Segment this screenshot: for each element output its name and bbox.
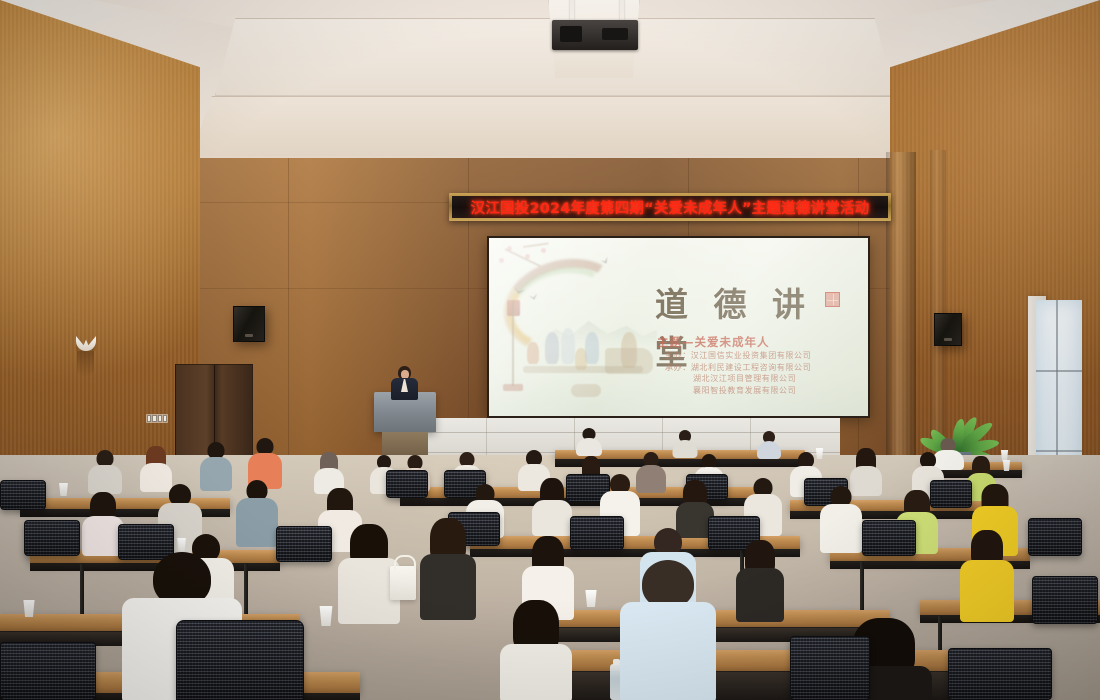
slide-coorg-1: 湖北汉江项目管理有限公司 bbox=[665, 373, 811, 385]
audience-member bbox=[88, 450, 122, 492]
slide-seal-icon bbox=[825, 292, 840, 307]
audience-member bbox=[532, 478, 572, 536]
projector-rod-left bbox=[570, 0, 574, 20]
lantern-pole bbox=[512, 300, 514, 386]
ceiling-projector bbox=[552, 20, 638, 50]
chair[interactable] bbox=[0, 642, 96, 700]
chair[interactable] bbox=[276, 526, 332, 562]
conference-hall-photo: 汉江国投2024年度第四期“关爱未成年人”主题道德讲堂活动 bbox=[0, 0, 1100, 700]
chair[interactable] bbox=[1032, 576, 1098, 624]
chair[interactable] bbox=[570, 516, 624, 550]
led-screen: 汉江国投2024年度第四期“关爱未成年人”主题道德讲堂活动 bbox=[452, 196, 888, 218]
chair[interactable] bbox=[862, 520, 916, 556]
led-banner: 汉江国投2024年度第四期“关爱未成年人”主题道德讲堂活动 bbox=[449, 193, 891, 221]
slide-organizer: 主办：汉江国信实业投资集团有限公司 bbox=[665, 351, 811, 360]
chair[interactable] bbox=[24, 520, 80, 556]
wall-speaker-left bbox=[233, 306, 265, 342]
chair[interactable] bbox=[176, 620, 304, 700]
audience-member bbox=[672, 430, 697, 456]
audience-member bbox=[636, 452, 666, 492]
audience-member bbox=[576, 428, 602, 454]
chair[interactable] bbox=[0, 480, 46, 510]
chair[interactable] bbox=[386, 470, 428, 498]
audience-member bbox=[736, 540, 784, 620]
projector-rod-right bbox=[620, 0, 624, 20]
audience-member bbox=[314, 452, 344, 492]
audience-member bbox=[820, 486, 862, 552]
audience-member bbox=[200, 442, 232, 490]
audience-member bbox=[960, 530, 1014, 620]
wall-sconce-shadow bbox=[77, 351, 94, 377]
projection-screen-surface: 道 德 讲 堂 主题—关爱未成年人 主办：汉江国信实业投资集团有限公司 承办：湖… bbox=[489, 238, 868, 416]
chair[interactable] bbox=[948, 648, 1052, 700]
chair[interactable] bbox=[1028, 518, 1082, 556]
audience-member bbox=[420, 518, 476, 618]
led-banner-text: 汉江国投2024年度第四期“关爱未成年人”主题道德讲堂活动 bbox=[471, 197, 870, 218]
slide-coorg-0: 承办：湖北利民建设工程咨询有限公司 bbox=[665, 363, 811, 372]
tote-bag bbox=[390, 566, 416, 600]
slide-subtitle: 主题—关爱未成年人 bbox=[657, 334, 770, 350]
ceiling-panel-lower bbox=[190, 96, 920, 158]
slide-credits: 主办：汉江国信实业投资集团有限公司 承办：湖北利民建设工程咨询有限公司 湖北汉江… bbox=[665, 350, 811, 396]
audience-member bbox=[500, 600, 572, 700]
lantern-base bbox=[503, 384, 523, 391]
audience-member bbox=[620, 560, 716, 700]
audience-member bbox=[236, 480, 278, 546]
power-outlets[interactable] bbox=[146, 414, 168, 423]
audience-member bbox=[757, 431, 781, 457]
projection-screen: 道 德 讲 堂 主题—关爱未成年人 主办：汉江国信实业投资集团有限公司 承办：湖… bbox=[487, 236, 870, 418]
chair[interactable] bbox=[790, 636, 870, 700]
slide-coorg-2: 襄阳智投教育发展有限公司 bbox=[665, 385, 811, 397]
presenter bbox=[389, 366, 419, 398]
wall-speaker-right bbox=[934, 313, 962, 346]
slide-illustration bbox=[493, 244, 661, 416]
